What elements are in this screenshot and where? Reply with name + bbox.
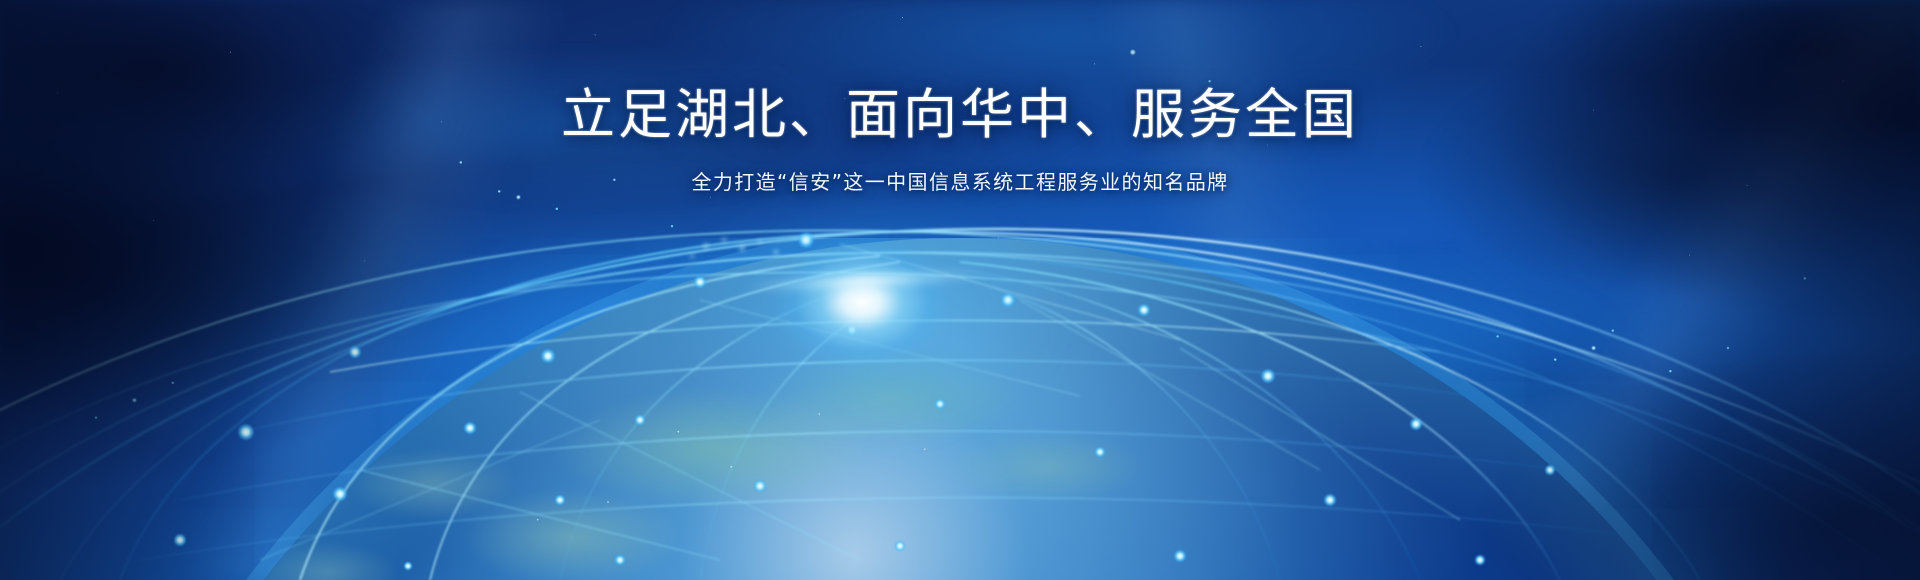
banner-subline: 全力打造“信安”这一中国信息系统工程服务业的知名品牌: [0, 166, 1920, 195]
banner-copy: 立足湖北、面向华中、服务全国 全力打造“信安”这一中国信息系统工程服务业的知名品…: [0, 86, 1920, 195]
hero-banner: 立足湖北、面向华中、服务全国 全力打造“信安”这一中国信息系统工程服务业的知名品…: [0, 0, 1920, 580]
banner-headline: 立足湖北、面向华中、服务全国: [0, 86, 1920, 144]
